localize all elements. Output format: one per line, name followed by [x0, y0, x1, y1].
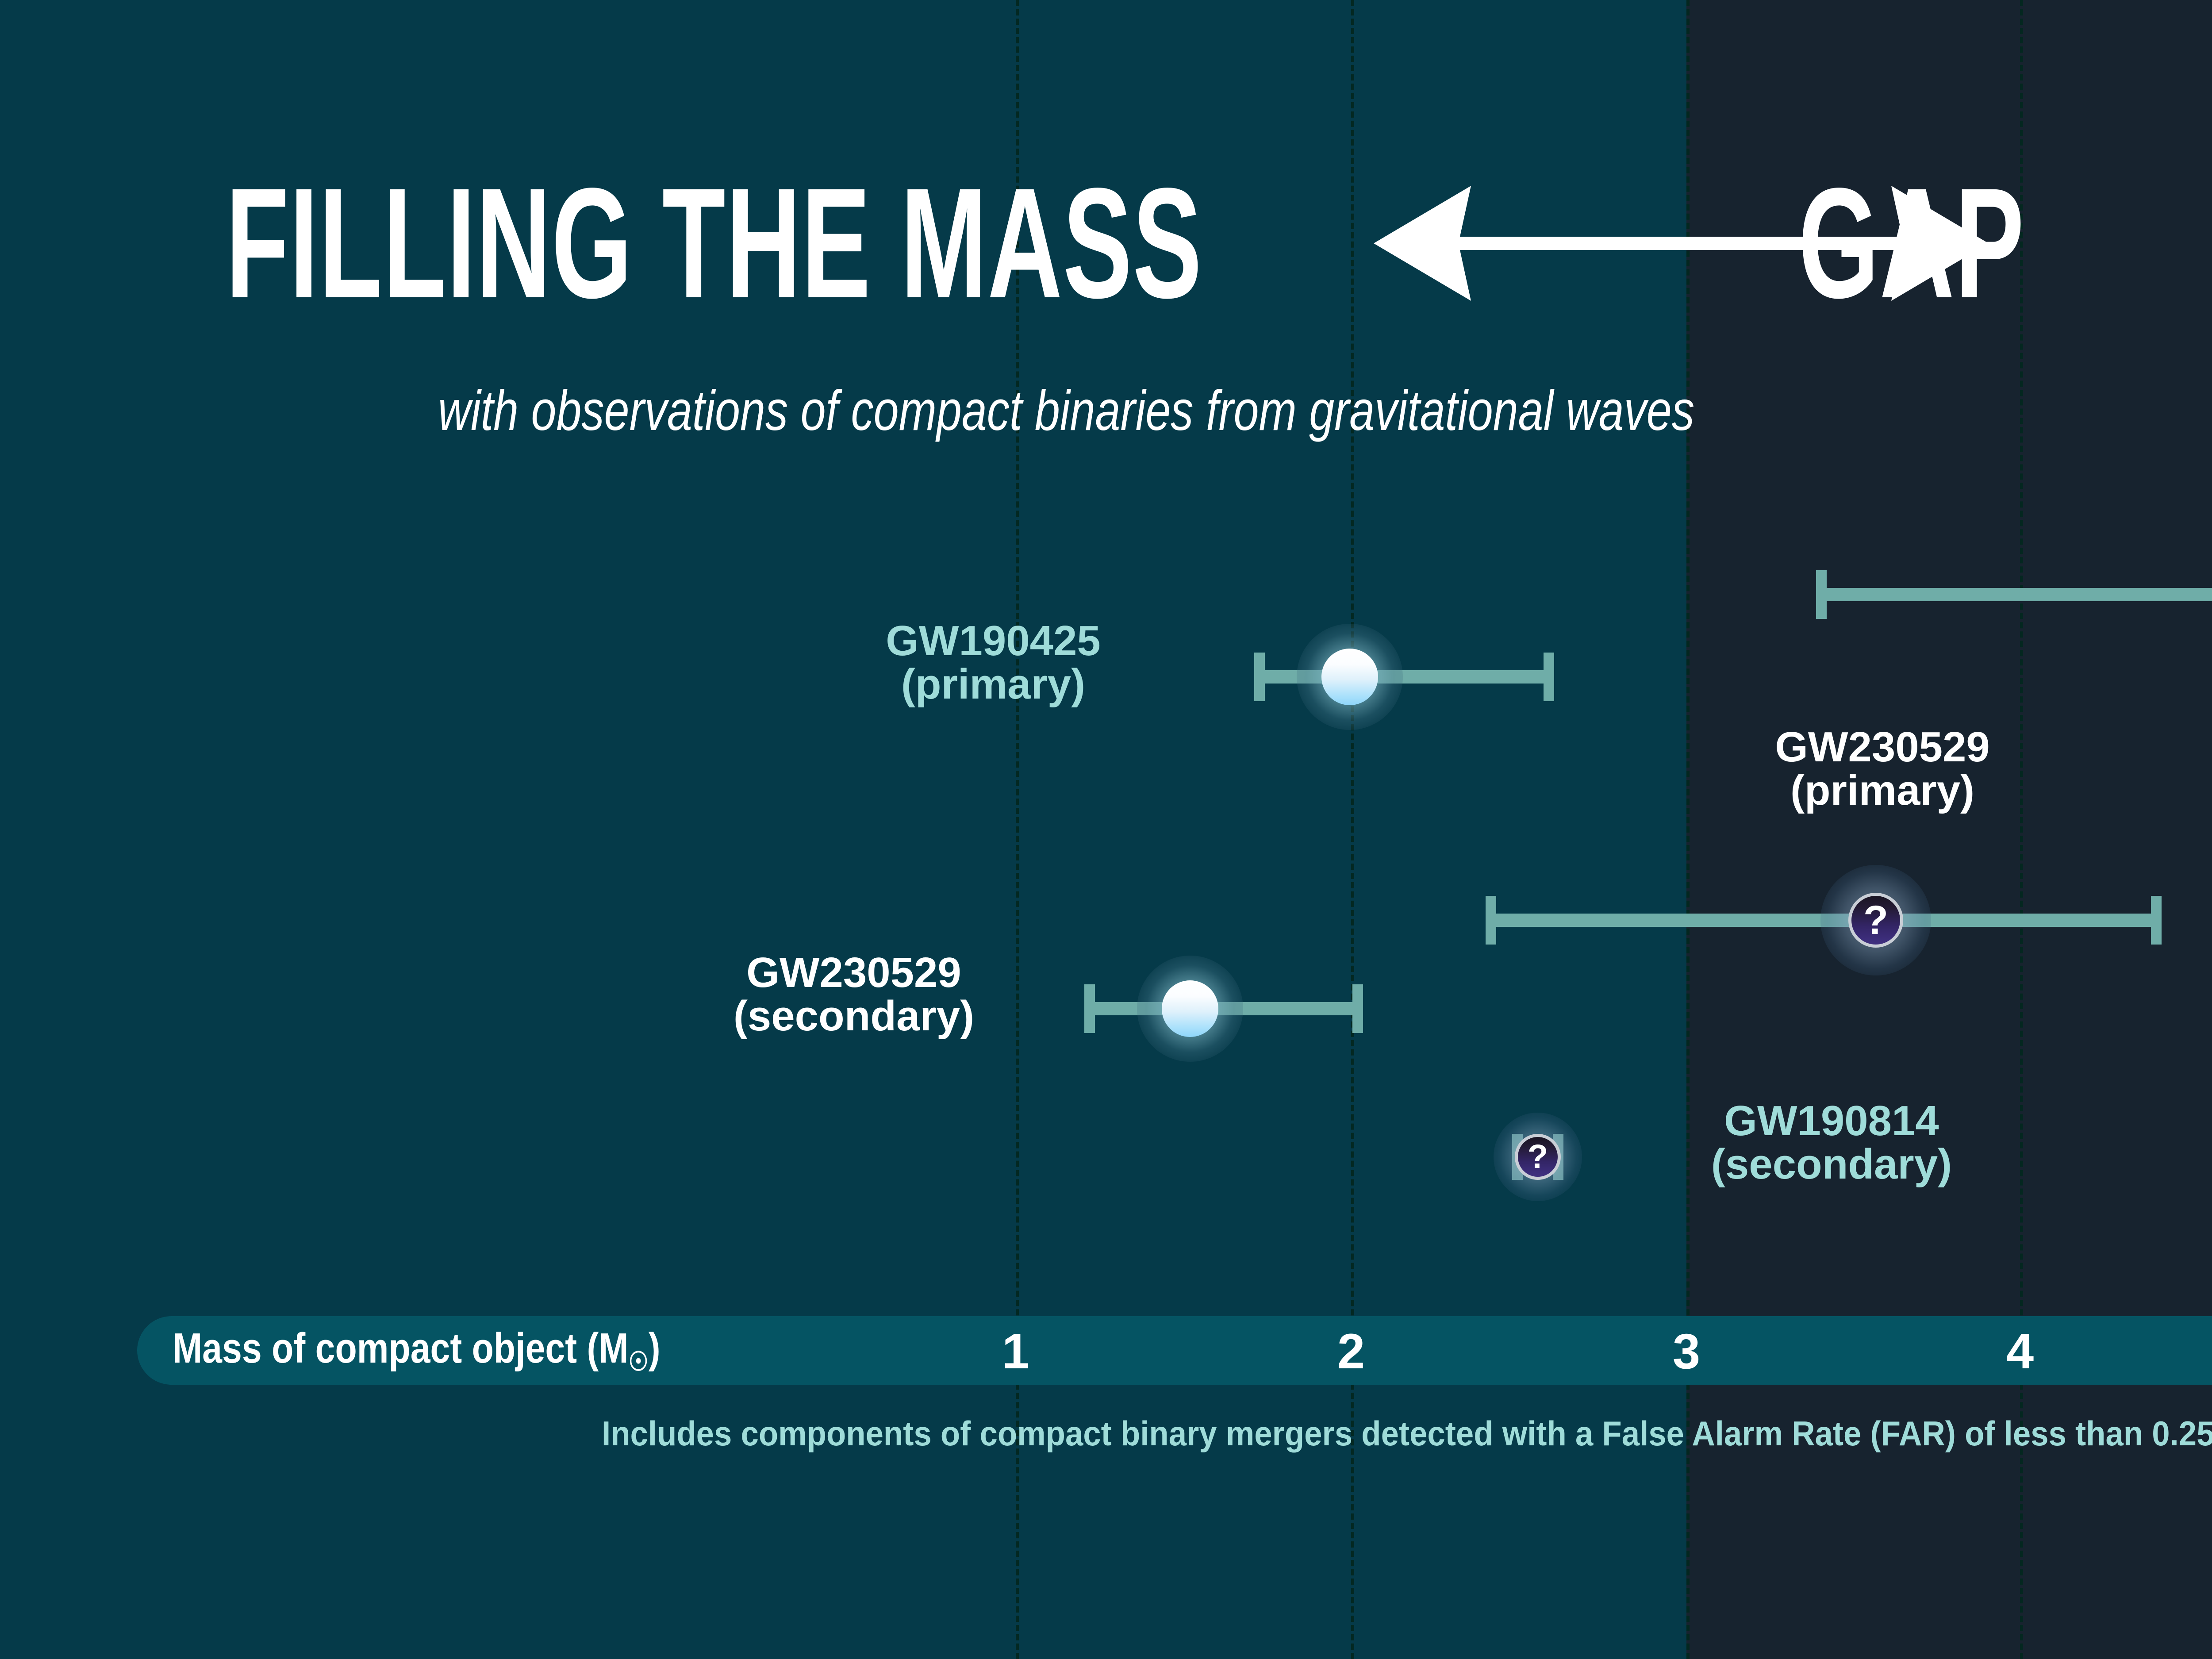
event-label-gw230529-secondary: GW230529 (secondary) — [733, 951, 974, 1038]
error-bar-cap-low-gw230529-primary — [1486, 896, 1496, 945]
solar-mass-symbol-icon: ☉ — [629, 1347, 649, 1376]
axis-tick-1: 1 — [1002, 1323, 1029, 1380]
error-bar-gw230529-primary — [1487, 914, 2160, 927]
error-bar-cap-high-gw230529-primary — [2151, 896, 2162, 945]
axis-tick-2: 2 — [1337, 1323, 1365, 1380]
axis-label-close-paren: ) — [649, 1325, 661, 1372]
axis-label: Mass of compact object (M☉) — [173, 1324, 661, 1377]
gridline-3 — [1686, 0, 1693, 1659]
axis-tick-3: 3 — [1673, 1323, 1700, 1380]
event-label-gw190425-primary: GW190425 (primary) — [886, 619, 1101, 706]
error-bar-gw230529-secondary — [1086, 1002, 1361, 1015]
question-mark-icon: ? — [1528, 1140, 1548, 1174]
error-bar-gw190425-primary — [1260, 670, 1549, 684]
infographic-canvas: FILLING THE MASS GAP with observations o… — [0, 0, 2212, 1659]
marker-gw190425-primary[interactable] — [1321, 649, 1378, 705]
gridline-2 — [1351, 0, 1357, 1659]
mass-gap-shaded-band — [1686, 0, 2212, 1659]
question-mark-icon: ? — [1863, 900, 1888, 941]
marker-gw190814-secondary[interactable]: ? — [1515, 1134, 1561, 1180]
error-bar-cap-low-gw190425 — [1254, 653, 1265, 701]
axis-label-text: Mass of compact object (M — [173, 1325, 629, 1372]
error-bar-cap-low-gw200115 — [1816, 570, 1827, 619]
page-title: FILLING THE MASS — [226, 171, 1202, 316]
error-bar-cap-high-gw190425 — [1544, 653, 1554, 701]
axis-tick-4: 4 — [2006, 1323, 2034, 1380]
gridline-4 — [2020, 0, 2026, 1659]
footnote-caption: Includes components of compact binary me… — [602, 1413, 2212, 1454]
error-bar-gw200115-primary — [1816, 588, 2212, 601]
event-label-gw230529-primary: GW230529 (primary) — [1775, 726, 1990, 812]
marker-gw230529-secondary[interactable] — [1162, 980, 1218, 1037]
event-label-gw190814-secondary: GW190814 (secondary) — [1711, 1099, 1952, 1186]
page-subtitle: with observations of compact binaries fr… — [438, 378, 1694, 443]
error-bar-cap-low-gw230529-secondary — [1084, 984, 1095, 1033]
error-bar-cap-high-gw230529-secondary — [1352, 984, 1363, 1033]
gridline-1 — [1016, 0, 1022, 1659]
marker-gw230529-primary[interactable]: ? — [1848, 893, 1903, 948]
